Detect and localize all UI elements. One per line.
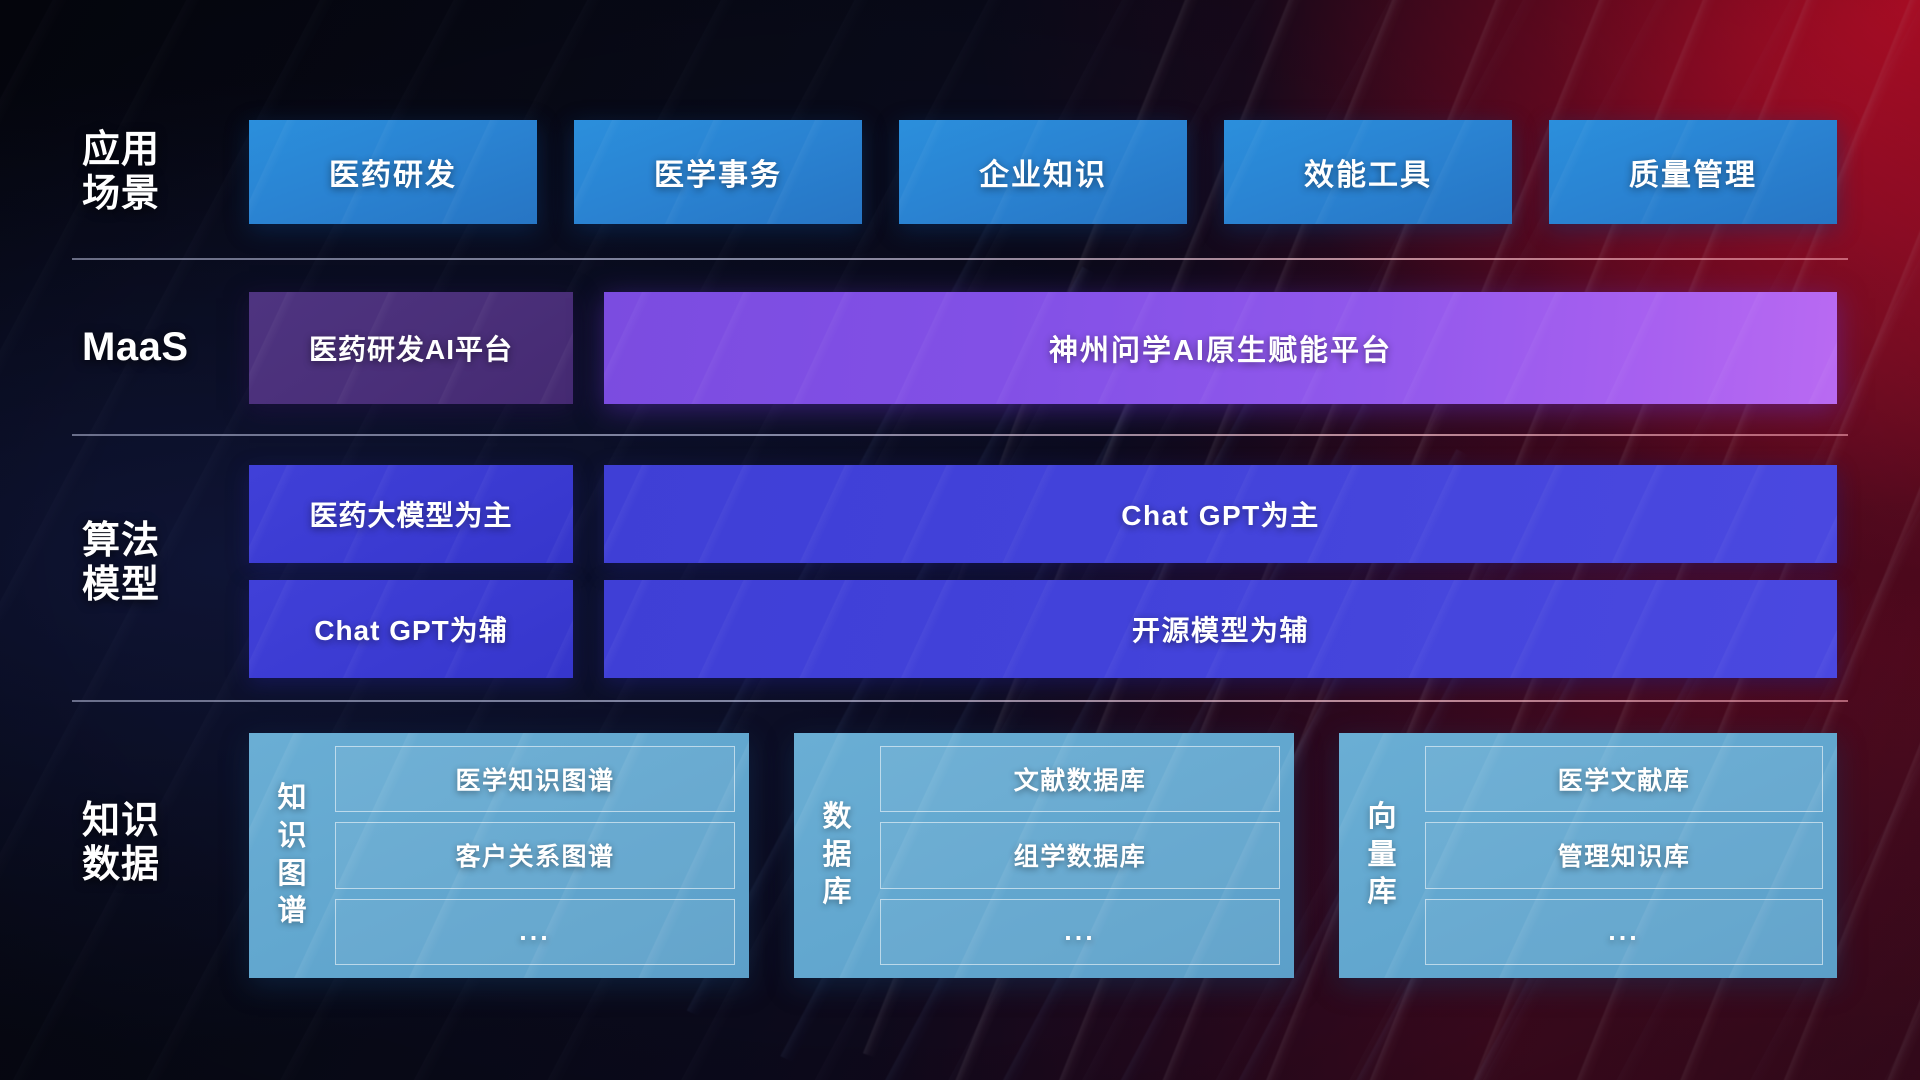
app-scenario-card-1[interactable]: 医药研发 [249, 120, 537, 224]
app-scenario-card-2[interactable]: 医学事务 [574, 120, 862, 224]
row-label-line: 算法 [82, 519, 262, 563]
knowledge-item[interactable]: 医学知识图谱 [335, 746, 735, 812]
knowledge-item[interactable]: 医学文献库 [1425, 746, 1823, 812]
knowledge-panel-vertical-label: 向 量 库 [1351, 746, 1413, 965]
algorithm-card-pharma-llm-primary[interactable]: 医药大模型为主 [249, 465, 573, 563]
row-label-line: 模型 [82, 563, 262, 607]
vertical-label-char: 图 [277, 856, 306, 894]
knowledge-item-label: 文献数据库 [1014, 761, 1147, 797]
vertical-label-char: 库 [822, 874, 851, 912]
knowledge-item-label: 客户关系图谱 [455, 837, 614, 873]
knowledge-panel-items: 医学知识图谱 客户关系图谱 ... [335, 746, 735, 965]
knowledge-item[interactable]: 管理知识库 [1425, 822, 1823, 888]
row-label-application-scenarios: 应用 场景 [82, 128, 262, 217]
architecture-stack-diagram: 应用 场景 医药研发 医学事务 企业知识 效能工具 质量管理 MaaS 医药研发… [0, 0, 1920, 1080]
row-label-line: MaaS [82, 324, 262, 371]
app-scenario-label: 医学事务 [654, 150, 782, 194]
vertical-label-char: 库 [1367, 874, 1396, 912]
knowledge-item-label: 组学数据库 [1014, 837, 1147, 873]
knowledge-item-label: 管理知识库 [1558, 837, 1691, 873]
algorithm-card-label: Chat GPT为主 [1121, 494, 1320, 534]
app-scenario-card-4[interactable]: 效能工具 [1224, 120, 1512, 224]
knowledge-panel-vertical-label: 数 据 库 [806, 746, 868, 965]
row-label-knowledge-data: 知识 数据 [82, 799, 262, 888]
vertical-label-char: 数 [822, 799, 851, 837]
divider-after-algorithm-models [72, 700, 1848, 702]
row-algorithm-models: 算法 模型 医药大模型为主 Chat GPT为主 Chat GPT为辅 开源模型… [0, 465, 1920, 695]
algorithm-card-label: 医药大模型为主 [309, 494, 512, 534]
knowledge-item-label: ... [519, 916, 551, 947]
app-scenario-label: 效能工具 [1304, 150, 1432, 194]
knowledge-panel-database[interactable]: 数 据 库 文献数据库 组学数据库 ... [794, 733, 1294, 978]
row-label-maas: MaaS [82, 324, 262, 371]
knowledge-item-label: 医学知识图谱 [455, 761, 614, 797]
knowledge-item[interactable]: 客户关系图谱 [335, 822, 735, 888]
algorithm-card-label: Chat GPT为辅 [314, 609, 508, 649]
app-scenario-label: 质量管理 [1629, 150, 1757, 194]
divider-after-application-scenarios [72, 258, 1848, 260]
maas-card-label: 医药研发AI平台 [309, 328, 513, 368]
algorithm-card-chatgpt-secondary[interactable]: Chat GPT为辅 [249, 580, 573, 678]
row-maas: MaaS 医药研发AI平台 神州问学AI原生赋能平台 [0, 292, 1920, 404]
maas-card-pharma-ai-platform[interactable]: 医药研发AI平台 [249, 292, 573, 404]
algorithm-card-label: 开源模型为辅 [1132, 609, 1309, 649]
knowledge-item[interactable]: 文献数据库 [880, 746, 1280, 812]
knowledge-panel-vertical-label: 知 识 图 谱 [261, 746, 323, 965]
algorithm-card-chatgpt-primary[interactable]: Chat GPT为主 [604, 465, 1837, 563]
vertical-label-char: 量 [1367, 837, 1396, 875]
row-application-scenarios: 应用 场景 医药研发 医学事务 企业知识 效能工具 质量管理 [0, 120, 1920, 224]
app-scenario-card-3[interactable]: 企业知识 [899, 120, 1187, 224]
vertical-label-char: 向 [1367, 799, 1396, 837]
knowledge-item[interactable]: 组学数据库 [880, 822, 1280, 888]
knowledge-item-label: 医学文献库 [1558, 761, 1691, 797]
row-label-line: 知识 [82, 799, 262, 843]
row-label-line: 数据 [82, 843, 262, 887]
row-label-line: 场景 [82, 172, 262, 216]
row-label-line: 应用 [82, 128, 262, 172]
app-scenario-label: 企业知识 [979, 150, 1107, 194]
knowledge-panel-vector-store[interactable]: 向 量 库 医学文献库 管理知识库 ... [1339, 733, 1837, 978]
row-label-algorithm-models: 算法 模型 [82, 519, 262, 608]
maas-card-shenzhou-wenxue-platform[interactable]: 神州问学AI原生赋能平台 [604, 292, 1837, 404]
algorithm-card-opensource-secondary[interactable]: 开源模型为辅 [604, 580, 1837, 678]
vertical-label-char: 谱 [277, 893, 306, 931]
knowledge-item-label: ... [1608, 916, 1640, 947]
knowledge-item-more[interactable]: ... [880, 899, 1280, 965]
vertical-label-char: 知 [277, 780, 306, 818]
knowledge-panel-items: 文献数据库 组学数据库 ... [880, 746, 1280, 965]
app-scenario-card-5[interactable]: 质量管理 [1549, 120, 1837, 224]
knowledge-item-more[interactable]: ... [335, 899, 735, 965]
app-scenario-label: 医药研发 [329, 150, 457, 194]
knowledge-item-more[interactable]: ... [1425, 899, 1823, 965]
divider-after-maas [72, 434, 1848, 436]
vertical-label-char: 识 [277, 818, 306, 856]
row-knowledge-data: 知识 数据 知 识 图 谱 医学知识图谱 客户关系图谱 ... [0, 733, 1920, 978]
vertical-label-char: 据 [822, 837, 851, 875]
knowledge-panel-knowledge-graph[interactable]: 知 识 图 谱 医学知识图谱 客户关系图谱 ... [249, 733, 749, 978]
knowledge-item-label: ... [1064, 916, 1096, 947]
maas-card-label: 神州问学AI原生赋能平台 [1049, 327, 1392, 369]
knowledge-panel-items: 医学文献库 管理知识库 ... [1425, 746, 1823, 965]
